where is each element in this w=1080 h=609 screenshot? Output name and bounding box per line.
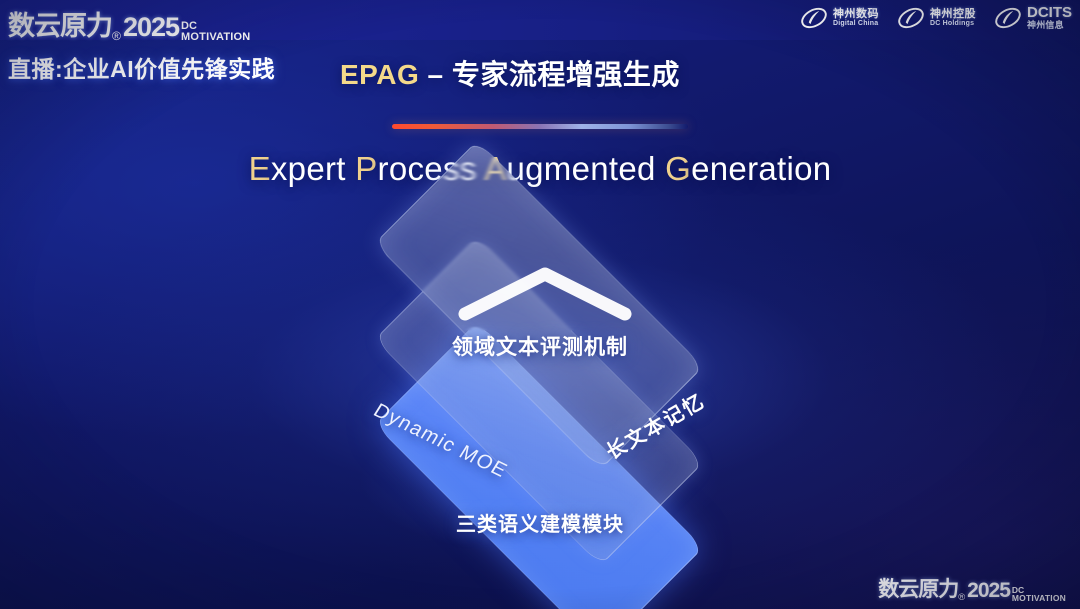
swoosh-logo-icon (800, 4, 828, 32)
partner-logo-group: 神州数码 Digital China 神州控股 DC Holdings (800, 4, 1072, 32)
brand-logo-bottomright: 数云原力 ® 2025 DC MOTIVATION (878, 573, 1066, 603)
partner-logo-digital-china: 神州数码 Digital China (800, 4, 879, 32)
partner-text: DCITS 神州信息 (1027, 5, 1072, 30)
title-divider (392, 124, 688, 129)
subtitle-cap-g: G (665, 150, 691, 187)
subtitle-word-generation: Generation (665, 150, 831, 187)
brand-logo-cn: 数云原力 (8, 4, 112, 43)
partner-name-en: DC Holdings (930, 20, 976, 27)
brand-logo-motivation: MOTIVATION (181, 32, 250, 42)
subtitle-rest-generation: eneration (691, 150, 831, 187)
partner-name-en: Digital China (833, 20, 879, 27)
page-title: EPAG – 专家流程增强生成 (340, 53, 680, 93)
partner-name-cn: 神州控股 (930, 9, 976, 21)
swoosh-logo-icon (994, 4, 1022, 32)
brand-logo-dcmotivation: DC MOTIVATION (181, 21, 250, 43)
partner-name-cn: 神州数码 (833, 9, 879, 21)
brand-registered-mark: ® (958, 592, 965, 603)
subtitle-cap-e: E (249, 150, 271, 187)
slide-canvas: 数云原力 ® 2025 DC MOTIVATION 神州数码 Digital C… (0, 0, 1080, 609)
brand-registered-mark: ® (112, 29, 121, 43)
subtitle-word-expert: Expert (249, 150, 356, 187)
brand-logo-topleft: 数云原力 ® 2025 DC MOTIVATION (8, 4, 250, 43)
subtitle-cap-p: P (355, 150, 377, 187)
brand-logo-year: 2025 (967, 579, 1010, 603)
subtitle-rest-expert: xpert (271, 150, 355, 187)
title-acronym: EPAG (340, 59, 419, 90)
brand-logo-motivation: MOTIVATION (1012, 594, 1066, 602)
brand-logo-cn: 数云原力 (878, 573, 958, 603)
partner-name-en: 神州信息 (1027, 21, 1072, 30)
subtitle-rest-augmented: ugmented (507, 150, 666, 187)
title-chinese: 专家流程增强生成 (452, 59, 680, 90)
diagram-label-bottom: 三类语义建模模块 (0, 508, 1080, 537)
title-dash: – (419, 59, 452, 90)
partner-text: 神州数码 Digital China (833, 9, 879, 28)
partner-text: 神州控股 DC Holdings (930, 9, 976, 28)
partner-name-cn: DCITS (1027, 5, 1072, 21)
brand-logo-dc: DC (181, 21, 250, 31)
brand-logo-year: 2025 (123, 12, 179, 43)
partner-logo-dc-holdings: 神州控股 DC Holdings (897, 4, 976, 32)
subtitle-expanded-acronym: Expert Process Augmented Generation (0, 150, 1080, 188)
live-stream-title: 直播:企业AI价值先锋实践 (8, 50, 275, 84)
diagram-label-top: 领域文本评测机制 (0, 331, 1080, 361)
brand-logo-dcmotivation: DC MOTIVATION (1012, 586, 1066, 603)
partner-logo-dcits: DCITS 神州信息 (994, 4, 1072, 32)
swoosh-logo-icon (897, 4, 925, 32)
